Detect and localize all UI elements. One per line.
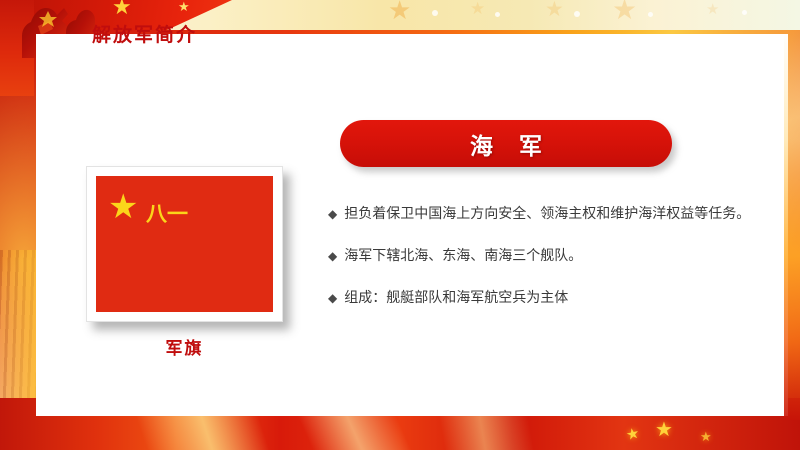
section-badge-navy: 海 军 (340, 120, 672, 167)
header-dot-5 (742, 10, 747, 15)
page-title: 解放军简介 (92, 20, 197, 47)
header-dot-4 (648, 12, 653, 17)
header-accent-star-icon: ★ (112, 0, 132, 19)
header-accent-star-icon-2: ★ (178, 1, 190, 14)
list-item-text: 担负着保卫中国海上方向安全、领海主权和维护海洋权益等任务。 (344, 204, 750, 224)
header-star-icon-5: ★ (706, 2, 719, 17)
header-star-icon-2: ★ (470, 1, 485, 18)
header-dot-1 (432, 10, 438, 16)
list-item-text: 组成：舰艇部队和海军航空兵为主体 (344, 288, 568, 308)
star-icon: ★ (108, 190, 138, 224)
diamond-bullet-icon: ◆ (328, 288, 337, 308)
diamond-bullet-icon: ◆ (328, 246, 337, 266)
list-item: ◆ 海军下辖北海、东海、南海三个舰队。 (328, 246, 788, 266)
bottom-star-icon-3: ★ (700, 431, 712, 444)
flag-caption: 军旗 (86, 334, 283, 359)
list-item: ◆ 组成：舰艇部队和海军航空兵为主体 (328, 288, 788, 308)
army-flag-image: ★ 八一 (86, 166, 283, 322)
header-star-icon-3: ★ (545, 0, 564, 20)
flag-bayi-text: 八一 (146, 204, 188, 225)
list-item: ◆ 担负着保卫中国海上方向安全、领海主权和维护海洋权益等任务。 (328, 204, 788, 224)
bottom-star-icon-2: ★ (655, 419, 673, 439)
bottom-star-icon-1: ★ (625, 426, 641, 443)
army-flag-canvas: ★ 八一 (96, 176, 273, 312)
list-item-text: 海军下辖北海、东海、南海三个舰队。 (344, 246, 582, 266)
header-dot-3 (574, 11, 580, 17)
header-star-icon-1: ★ (388, 0, 411, 24)
right-edge-glow (784, 30, 800, 420)
diamond-bullet-icon: ◆ (328, 204, 337, 224)
slide: ★ ★ ★ ★ ★ ★ ★ ★ ★ ★ (0, 0, 800, 450)
bullet-list: ◆ 担负着保卫中国海上方向安全、领海主权和维护海洋权益等任务。 ◆ 海军下辖北海… (328, 204, 788, 330)
header-star-icon-4: ★ (612, 0, 637, 24)
section-badge-label: 海 军 (461, 127, 551, 161)
header-dot-2 (495, 12, 500, 17)
